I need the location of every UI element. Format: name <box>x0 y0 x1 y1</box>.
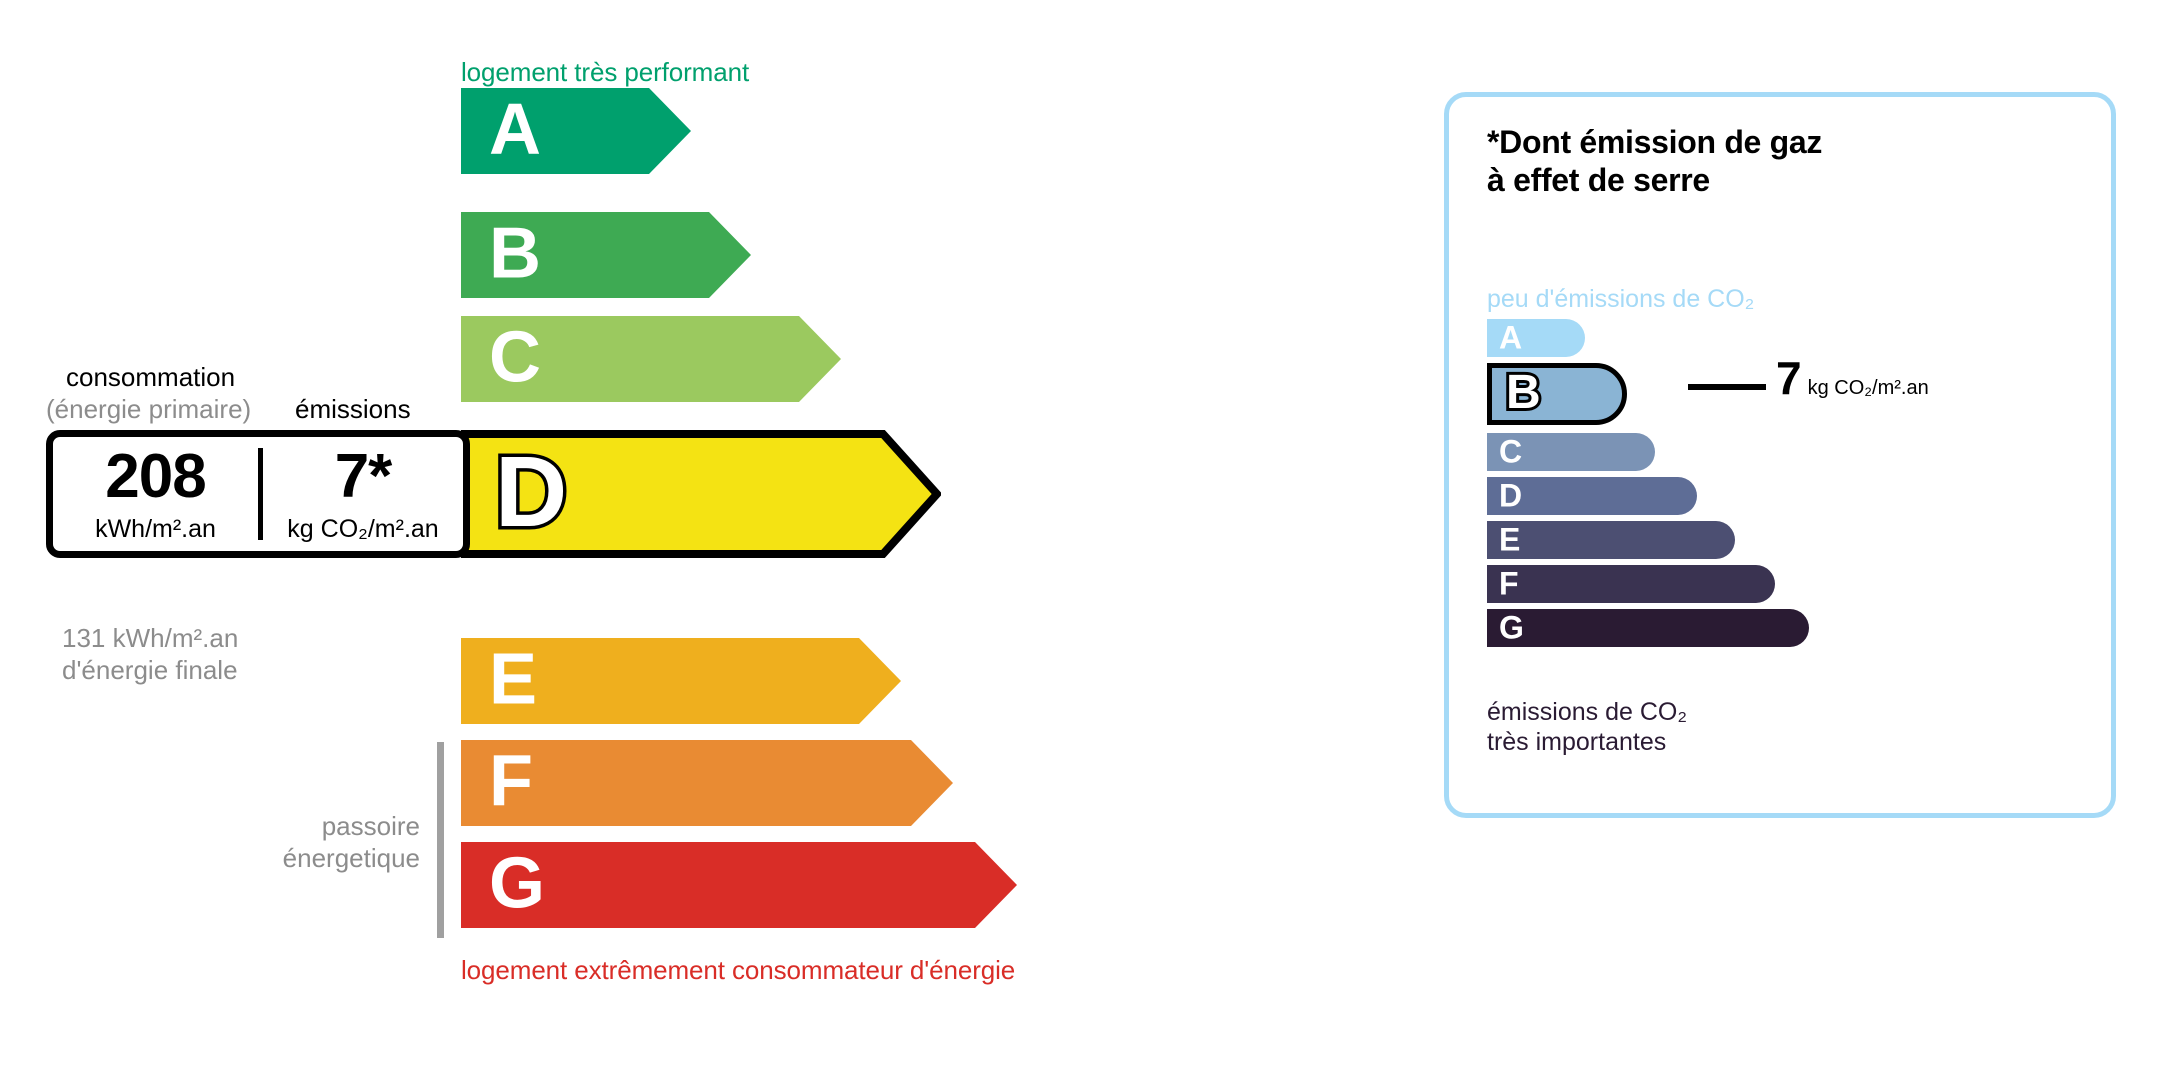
co2-readout-value: 7 <box>1776 352 1802 404</box>
co2-leader-line <box>1688 384 1766 390</box>
co2-bar-a[interactable]: A <box>1487 319 1585 357</box>
co2-bar-b-selected[interactable]: B <box>1487 363 1627 425</box>
co2-bar-a-letter: A <box>1499 321 1522 353</box>
energy-band-f[interactable]: F <box>461 740 953 826</box>
energy-performance-scale: logement très performant A B C <box>0 0 1400 1079</box>
co2-top-caption: peu d'émissions de CO₂ <box>1487 285 1754 314</box>
passoire-energetique-label: passoire énergetique <box>180 810 420 874</box>
co2-readout-unit: kg CO₂/m².an <box>1808 377 1929 399</box>
co2-bottom-caption: émissions de CO₂ très importantes <box>1487 697 1687 757</box>
band-f-arrow-shape <box>461 740 953 826</box>
primary-energy-cell: 208 kWh/m².an <box>53 446 258 542</box>
co2-bar-f[interactable]: F <box>1487 565 1775 603</box>
co2-bottom-caption-line2: très importantes <box>1487 727 1687 757</box>
passoire-energetique-marker-bar <box>437 742 444 938</box>
co2-bar-g-letter: G <box>1499 611 1524 643</box>
co2-bar-b-letter: B <box>1506 369 1541 417</box>
dpe-infographic: logement très performant A B C <box>0 0 2170 1079</box>
energy-band-a-letter: A <box>489 94 541 166</box>
final-energy-line2: d'énergie finale <box>62 654 238 686</box>
co2-bottom-caption-line1: émissions de CO₂ <box>1487 697 1687 727</box>
primary-energy-unit: kWh/m².an <box>53 517 258 542</box>
co2-readout: 7kg CO₂/m².an <box>1776 355 1929 401</box>
value-box: 208 kWh/m².an 7* kg CO₂/m².an <box>46 430 470 558</box>
energy-band-g[interactable]: G <box>461 842 1017 928</box>
energy-band-c[interactable]: C <box>461 316 841 402</box>
co2-emissions-panel: *Dont émission de gaz à effet de serre p… <box>1444 92 2116 818</box>
energy-band-b-letter: B <box>489 218 541 290</box>
energy-band-g-letter: G <box>489 848 545 920</box>
co2-title-line2: à effet de serre <box>1487 161 1822 199</box>
energy-band-c-letter: C <box>489 322 541 394</box>
passoire-label-line1: passoire <box>180 810 420 842</box>
co2-panel-title: *Dont émission de gaz à effet de serre <box>1487 123 1822 199</box>
co2-bar-e[interactable]: E <box>1487 521 1735 559</box>
co2-bar-d[interactable]: D <box>1487 477 1697 515</box>
co2-bar-f-letter: F <box>1499 567 1519 599</box>
scale-top-caption: logement très performant <box>461 57 749 88</box>
scale-bottom-caption: logement extrêmement consommateur d'éner… <box>461 955 1015 986</box>
co2-bar-e-letter: E <box>1499 523 1520 555</box>
co2-bar-d-letter: D <box>1499 479 1522 511</box>
energy-band-f-letter: F <box>489 746 533 818</box>
co2-bar-c-letter: C <box>1499 435 1522 467</box>
co2-bar-c[interactable]: C <box>1487 433 1655 471</box>
primary-energy-value: 208 <box>53 446 258 508</box>
final-energy-line1: 131 kWh/m².an <box>62 622 238 654</box>
passoire-label-line2: énergetique <box>180 842 420 874</box>
energy-band-b[interactable]: B <box>461 212 751 298</box>
energy-band-a[interactable]: A <box>461 88 691 174</box>
energy-band-e-letter: E <box>489 644 537 716</box>
co2-bar-g[interactable]: G <box>1487 609 1809 647</box>
energy-band-d-letter: D <box>495 442 567 542</box>
label-emissions: émissions <box>295 394 411 425</box>
label-energie-primaire: (énergie primaire) <box>46 394 251 425</box>
final-energy-note: 131 kWh/m².an d'énergie finale <box>62 622 238 686</box>
co2-emissions-unit: kg CO₂/m².an <box>263 517 463 542</box>
label-consommation: consommation <box>66 362 235 393</box>
co2-emissions-cell: 7* kg CO₂/m².an <box>263 446 463 542</box>
co2-title-line1: *Dont émission de gaz <box>1487 123 1822 161</box>
co2-emissions-value: 7* <box>263 446 463 508</box>
energy-band-e[interactable]: E <box>461 638 901 724</box>
energy-band-d-selected[interactable]: D <box>461 430 941 558</box>
